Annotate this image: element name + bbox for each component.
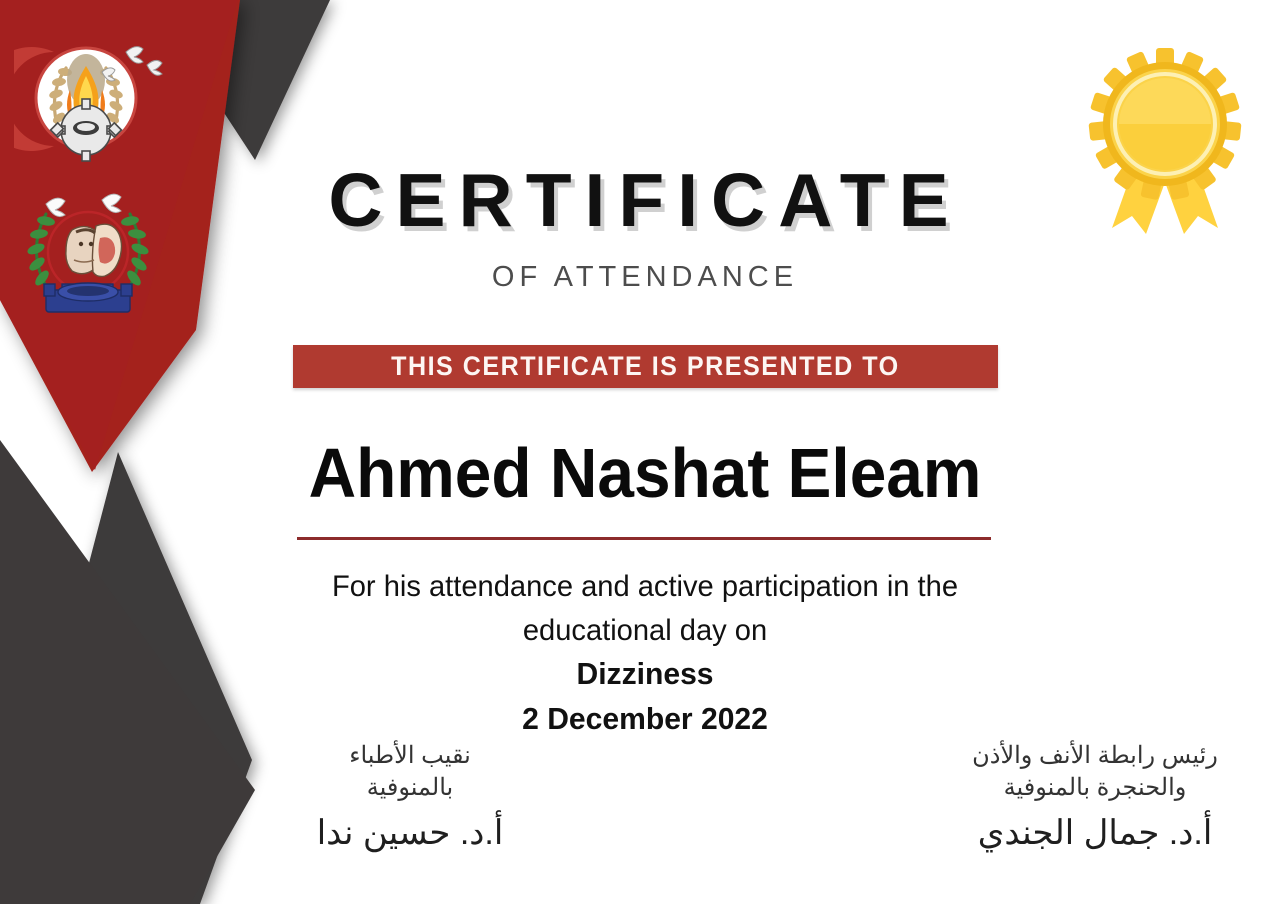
signature-right-role-line2: والحنجرة بالمنوفية	[930, 772, 1260, 804]
presented-to-banner: THIS CERTIFICATE IS PRESENTED TO	[293, 345, 998, 388]
signature-block-right: رئيس رابطة الأنف والأذن والحنجرة بالمنوف…	[930, 740, 1260, 854]
certificate-body: For his attendance and active participat…	[242, 565, 1047, 742]
dark-wedge-lower	[0, 330, 252, 904]
medical-syndicate-emblem	[14, 32, 172, 172]
presented-to-label: THIS CERTIFICATE IS PRESENTED TO	[391, 351, 899, 382]
certificate-page: CERTIFICATE OF ATTENDANCE THIS CERTIFICA…	[0, 0, 1280, 904]
event-date: 2 December 2022	[242, 697, 1047, 742]
certificate-content: CERTIFICATE OF ATTENDANCE THIS CERTIFICA…	[230, 0, 1280, 904]
ent-association-emblem	[12, 186, 164, 326]
signature-left-role-line1: نقيب الأطباء	[260, 740, 560, 772]
page-subtitle: OF ATTENDANCE	[230, 263, 1060, 292]
signature-left-role: نقيب الأطباء بالمنوفية	[260, 740, 560, 805]
dark-wedge-lower-fill	[0, 440, 255, 904]
head-profile-icon	[66, 224, 122, 276]
body-line-2: educational day on	[242, 609, 1047, 653]
signature-left-role-line2: بالمنوفية	[260, 772, 560, 804]
signature-right-name: أ.د. جمال الجندي	[930, 813, 1260, 854]
body-line-1: For his attendance and active participat…	[242, 565, 1047, 609]
gear-icon	[44, 283, 132, 312]
recipient-name: Ahmed Nashat Eleam	[255, 438, 1035, 508]
event-topic: Dizziness	[242, 652, 1047, 697]
signature-block-left: نقيب الأطباء بالمنوفية أ.د. حسين ندا	[260, 740, 560, 854]
page-title: CERTIFICATE	[230, 163, 1060, 238]
signature-left-name: أ.د. حسين ندا	[260, 813, 560, 854]
name-underline-rule	[297, 537, 991, 540]
signature-right-role: رئيس رابطة الأنف والأذن والحنجرة بالمنوف…	[930, 740, 1260, 805]
signature-right-role-line1: رئيس رابطة الأنف والأذن	[930, 740, 1260, 772]
